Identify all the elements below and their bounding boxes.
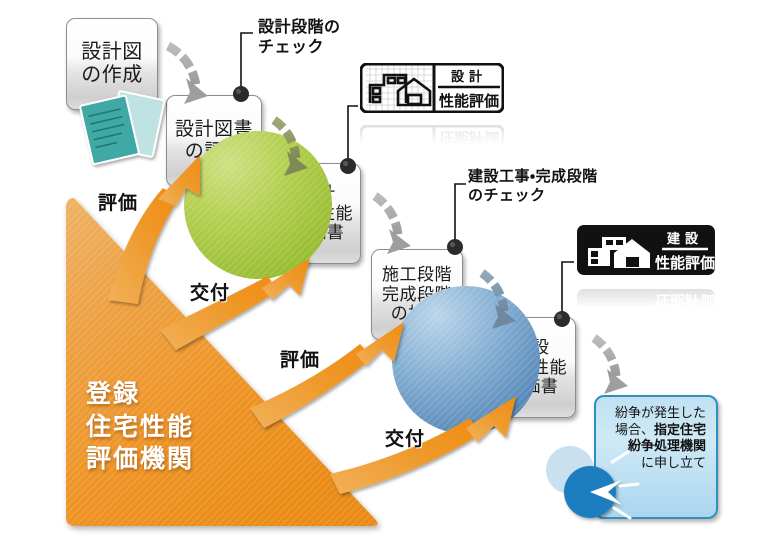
construction-performance-mark-plate: 建設 性能評価 — [576, 224, 716, 276]
construction-mark-bottom-label: 性能評価 — [655, 254, 715, 272]
design-documents-icon — [80, 91, 165, 165]
green-stage-circle — [184, 131, 332, 279]
construction-performance-mark-reflection: 性能評価 — [576, 283, 716, 318]
orange-arrow-evaluation-design — [108, 155, 200, 304]
gray-arrow-3 — [375, 196, 411, 254]
flow-verb-evaluation-construction: 評価 — [280, 345, 320, 372]
registered-evaluation-body-caption: 登録 住宅性能 評価機関 — [86, 378, 194, 476]
dispute-burst-icon — [538, 446, 638, 526]
orange-arrow-evaluation-construction — [250, 322, 404, 428]
design-performance-mark-reflection: 性能評価 — [360, 120, 504, 155]
design-performance-mark-plate: 設計 性能評価 — [360, 63, 504, 113]
flow-verb-issuance-design: 交付 — [190, 278, 230, 305]
diagram-canvas: 設計図 の作成 設計図書 の評価 設計 住宅性能 評価書 施工段階 完成段階 の… — [0, 0, 770, 538]
design-mark-bottom-label: 性能評価 — [439, 92, 499, 110]
gray-arrow-1 — [168, 46, 208, 104]
construction-performance-mark: 建設 性能評価 性能評価 — [576, 224, 716, 318]
gray-arrow-5 — [594, 338, 628, 394]
callout-construction-completion-check: 建設工事・完成段階 のチェック — [468, 168, 598, 205]
svg-text:性能評価: 性能評価 — [439, 129, 499, 147]
blue-stage-circle — [392, 286, 540, 434]
construction-mark-top-label: 建設 — [666, 231, 703, 246]
callout-design-stage-check: 設計段階の チェック — [258, 18, 341, 58]
svg-text:性能評価: 性能評価 — [655, 292, 715, 310]
flow-verb-evaluation-design: 評価 — [98, 188, 138, 215]
flow-verb-issuance-construction: 交付 — [385, 424, 425, 451]
design-mark-top-label: 設計 — [451, 69, 487, 84]
design-performance-mark: 設計 性能評価 性能評価 — [360, 63, 504, 155]
